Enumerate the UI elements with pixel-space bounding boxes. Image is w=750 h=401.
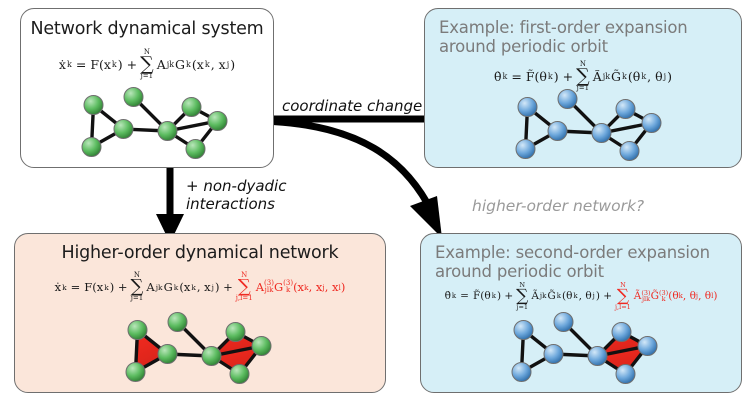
panel-first-order-expansion: Example: first-order expansion around pe… (424, 8, 742, 168)
eq-G1-args: (x (179, 280, 190, 294)
eq-f-close: ) + (110, 280, 128, 294)
eq-sum2-symbol: ∑ (617, 289, 629, 304)
eq-G-comma: , x (211, 57, 226, 72)
eq-G-args: (θ (628, 69, 640, 84)
eq-G1-comma: , θ (579, 290, 592, 302)
eq-A3-sub: jlk (264, 287, 274, 294)
eq-A3: A (256, 280, 264, 294)
graph-first-order (503, 89, 678, 167)
eq-G-arg2-sub: j (227, 60, 229, 69)
eq-f-sub: k (104, 283, 109, 292)
eq-G1-arg2-sub: j (212, 283, 214, 292)
eq-A1: Ã (531, 290, 539, 302)
eq-G1: G (164, 280, 173, 294)
panel-higher-order-dynamical-network: Higher-order dynamical network ẋk = F(xk… (14, 233, 386, 393)
eq-lhs-sub: k (452, 292, 456, 300)
eq-sum2-symbol: ∑ (238, 279, 251, 295)
eq-A-sub: jk (603, 72, 610, 81)
eq-A1: A (146, 280, 154, 294)
eq-f: F(x (84, 280, 103, 294)
panel-title-network-dynamical-system: Network dynamical system (21, 19, 273, 39)
eq-G3-comma1: , θ (683, 290, 696, 302)
eq-A3: Ã (634, 290, 642, 302)
eq-A1-sub: jk (156, 283, 163, 292)
eq-f: F̃(θ (526, 69, 547, 84)
eq-equals: = (76, 57, 86, 72)
arrow-label-non-dyadic-line2: interactions (186, 196, 275, 213)
eq-G3-comma2: , x (325, 280, 339, 294)
eq-f-close: ) + (554, 69, 573, 84)
panel-second-order-expansion: Example: second-order expansion around p… (420, 233, 742, 393)
eq-G3-sub: k (283, 287, 293, 294)
eq-sum2-bottom: j,l=1 (236, 295, 253, 302)
eq-G1-arg1-sub: k (191, 283, 196, 292)
equation-network-dynamical-system: ẋk = F(xk) + N ∑ j=1 Ajk Gk (xk, xj) (21, 49, 273, 80)
eq-f-close: ) + (118, 57, 137, 72)
graph-higher-order-network (113, 312, 288, 390)
eq-G1-args: (θ (562, 290, 572, 302)
eq-G-sub: k (186, 60, 191, 69)
eq-f-sub: k (112, 60, 117, 69)
eq-lhs: ẋ (55, 280, 62, 294)
eq-equals: = (460, 290, 469, 302)
eq-A-sub: jk (167, 60, 174, 69)
graph-network-dynamical-system (69, 87, 244, 165)
diagram-canvas: Network dynamical system ẋk = F(xk) + N … (0, 0, 750, 401)
eq-G-arg1-sub: k (641, 72, 646, 81)
eq-G1-sub: k (557, 292, 561, 300)
eq-A3-sub: jlk (641, 296, 650, 303)
eq-equals: = (511, 69, 521, 84)
eq-G-close: ) (667, 69, 672, 84)
eq-sum2-bottom: j,l=1 (615, 304, 631, 311)
eq-equals: = (71, 280, 81, 294)
panel-title-second-order-line2: around periodic orbit (435, 262, 733, 281)
eq-lhs: ẋ (59, 57, 66, 72)
panel-title-first-order-line2: around periodic orbit (439, 37, 731, 56)
arrow-non-dyadic (156, 166, 184, 243)
eq-G3: G̃ (651, 290, 659, 302)
equation-second-order: θ̇k = F̃(θk) + N ∑ j=1 Ãjk G̃k (θk, θj) … (421, 282, 741, 310)
panel-network-dynamical-system: Network dynamical system ẋk = F(xk) + N … (20, 8, 274, 168)
eq-G: G̃ (611, 69, 621, 84)
eq-G-comma: , θ (647, 69, 662, 84)
eq-f-sub: k (548, 72, 553, 81)
panel-title-second-order-line1: Example: second-order expansion (435, 243, 733, 262)
eq-G1-close: ) + (596, 290, 612, 302)
eq-G3-close: ) (341, 280, 346, 294)
eq-G-close: ) (230, 57, 235, 72)
eq-G1-sub: k (174, 283, 179, 292)
eq-G3-args: (x (293, 280, 304, 294)
eq-sum-symbol: ∑ (140, 56, 154, 73)
eq-A1-sub: jk (540, 292, 546, 300)
arrow-label-coordinate-change: coordinate change (282, 98, 422, 115)
panel-title-first-order-line1: Example: first-order expansion (439, 18, 731, 37)
eq-G1-close: ) + (215, 280, 233, 294)
eq-lhs-sub: k (67, 60, 72, 69)
eq-lhs-sub: k (62, 283, 67, 292)
eq-G3-args: (θ (668, 290, 678, 302)
equation-first-order: θ̇k = F̃(θk) + N ∑ j=1 Ãjk G̃k (θk, θj) (425, 61, 741, 92)
panel-title-higher-order-dynamical-network: Higher-order dynamical network (15, 243, 385, 263)
eq-lhs-sub: k (503, 72, 508, 81)
eq-G-args: (x (192, 57, 204, 72)
eq-G: G (175, 57, 185, 72)
equation-higher-order-network: ẋk = F(xk) + N ∑ j=1 Ajk Gk (xk, xj) + N… (15, 272, 385, 302)
eq-f-sub: k (492, 292, 496, 300)
arrow-label-non-dyadic-line1: + non-dyadic (186, 178, 286, 195)
eq-sum1-bottom: j=1 (516, 304, 528, 311)
eq-G3: G (274, 280, 283, 294)
graph-second-order (499, 312, 674, 390)
arrow-label-higher-order-network-question: higher-order network? (472, 198, 644, 215)
eq-lhs: θ̇ (494, 69, 502, 84)
eq-G-sub: k (622, 72, 627, 81)
eq-G1-arg2-sub: j (593, 292, 595, 300)
eq-sum-symbol: ∑ (576, 68, 590, 85)
eq-f-close: ) + (497, 290, 513, 302)
eq-G1-comma: , x (197, 280, 211, 294)
eq-f: F(x (90, 57, 111, 72)
eq-G3-close: ) (713, 290, 717, 302)
eq-f: F̃(θ (473, 290, 491, 302)
eq-G3-comma2: , θ (698, 290, 711, 302)
eq-lhs: θ̇ (445, 290, 451, 302)
eq-A: A (157, 57, 166, 72)
eq-G3-comma1: , x (309, 280, 323, 294)
eq-G-arg1-sub: k (205, 60, 210, 69)
eq-A: Ã (593, 69, 602, 84)
eq-G1: G̃ (547, 290, 555, 302)
eq-sum1-symbol: ∑ (131, 279, 144, 295)
eq-G-arg2-sub: j (664, 72, 666, 81)
arrow-higher-order-curved (262, 121, 442, 238)
eq-sum-bottom: j=1 (141, 73, 154, 80)
eq-G1-arg1-sub: k (573, 292, 577, 300)
eq-sum1-bottom: j=1 (131, 295, 144, 302)
eq-sum1-symbol: ∑ (516, 289, 528, 304)
eq-G3-sub: k (659, 296, 668, 303)
